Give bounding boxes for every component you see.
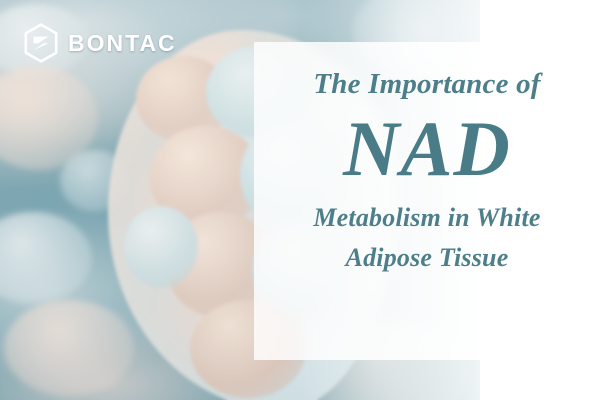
promo-banner: The Importance of NAD Metabolism in Whit… <box>0 0 600 400</box>
headline-line-1: The Importance of <box>262 70 592 99</box>
brand-logo[interactable]: BONTAC <box>23 23 177 63</box>
headline-line-4: Adipose Tissue <box>262 245 592 271</box>
brand-wordmark: BONTAC <box>68 32 177 55</box>
hexagon-z-mark-icon <box>23 23 59 63</box>
headline-nad: NAD <box>262 109 592 189</box>
headline-line-3: Metabolism in White <box>262 205 592 231</box>
headline-block: The Importance of NAD Metabolism in Whit… <box>262 70 592 340</box>
top-right-white-block <box>520 0 600 46</box>
